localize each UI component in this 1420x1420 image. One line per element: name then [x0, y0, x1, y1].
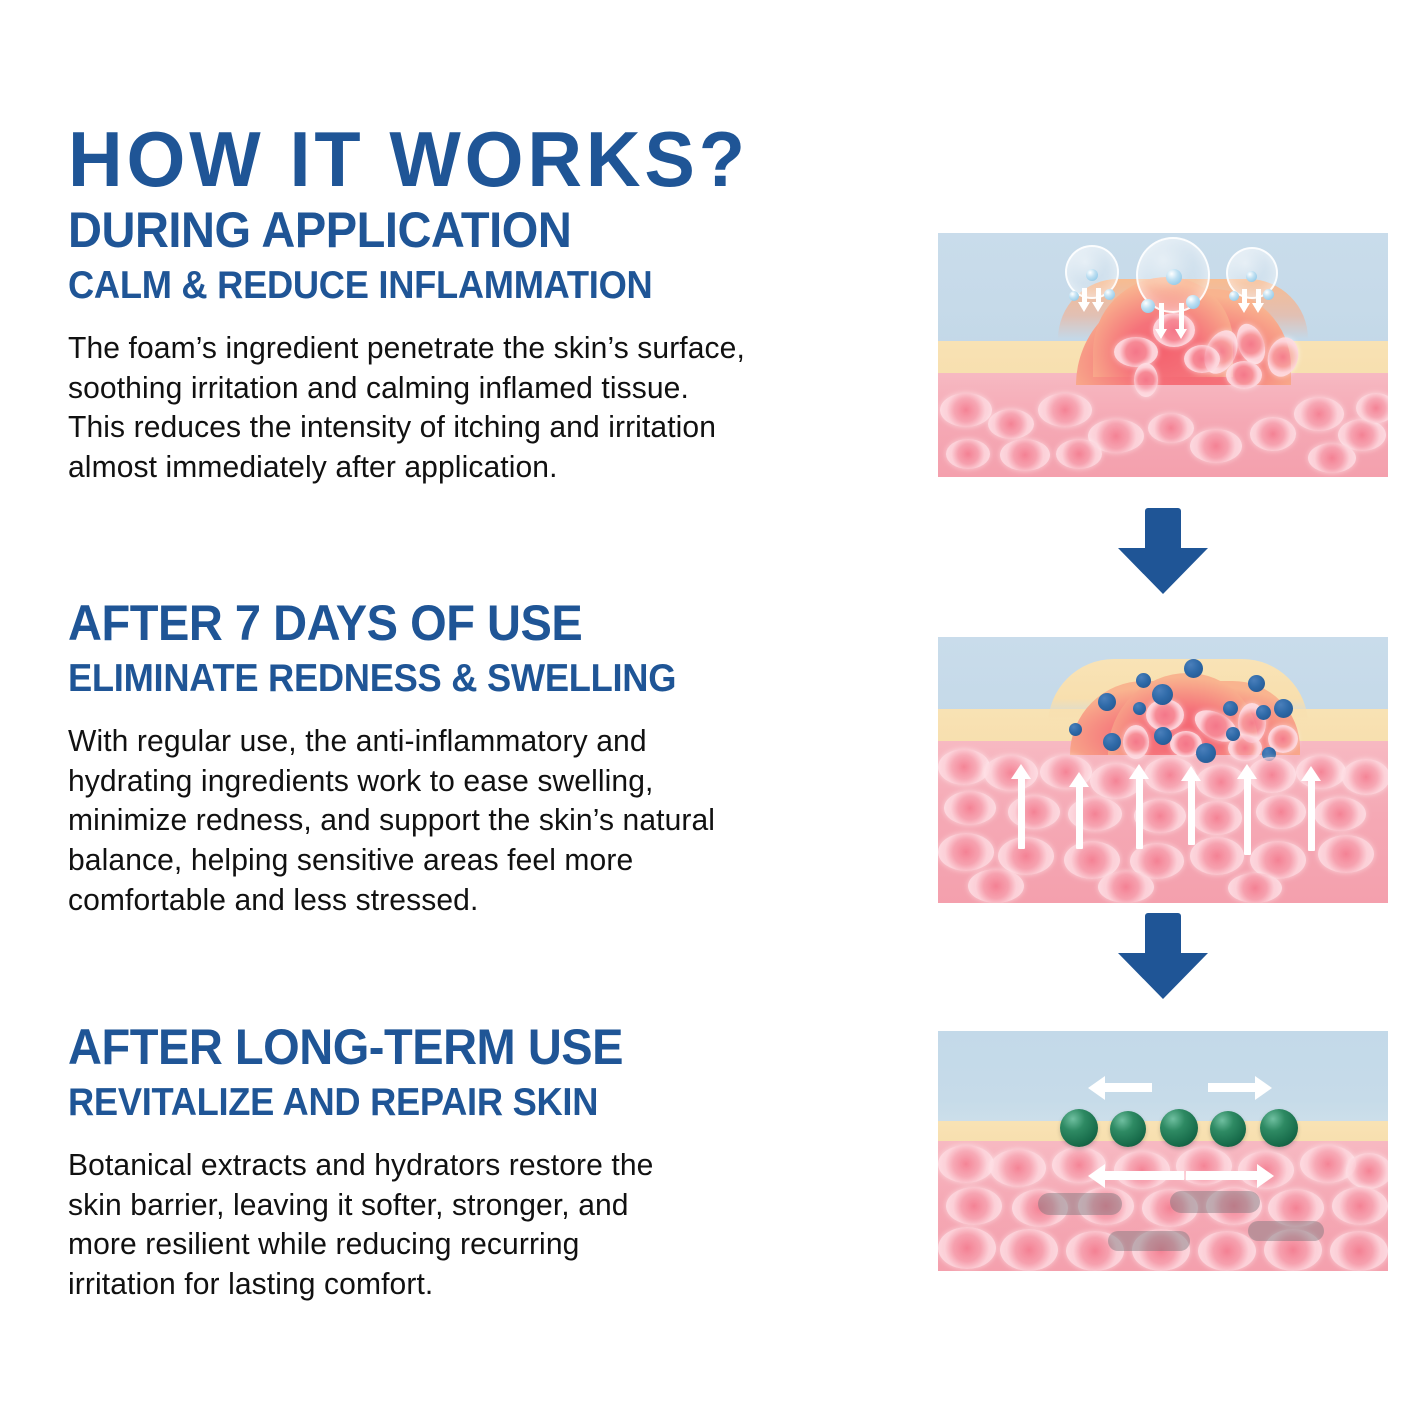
ingredient-particle	[1226, 727, 1240, 741]
botanical-sphere	[1110, 1111, 1146, 1147]
ingredient-particle	[1136, 673, 1151, 688]
ingredient-particle	[1133, 702, 1146, 715]
ingredient-particle	[1152, 684, 1173, 705]
infographic-root: HOW IT WORKS? DURING APPLICATION CALM & …	[0, 0, 1420, 1420]
page-title: HOW IT WORKS?	[68, 120, 749, 198]
upward-arrow	[1018, 777, 1025, 849]
body-line: comfortable and less stressed.	[68, 881, 935, 921]
section-body: With regular use, the anti-inflammatory …	[68, 722, 935, 920]
section-heading: AFTER LONG-TERM USE	[68, 1022, 895, 1073]
section-heading: AFTER 7 DAYS OF USE	[68, 598, 895, 649]
body-line: more resilient while reducing recurring	[68, 1225, 935, 1265]
body-line: With regular use, the anti-inflammatory …	[68, 722, 935, 762]
section-subheading: REVITALIZE AND REPAIR SKIN	[68, 1083, 886, 1124]
down-arrow-step-2-icon	[1118, 913, 1208, 999]
section-subheading: ELIMINATE REDNESS & SWELLING	[68, 659, 886, 700]
down-arrow-step-1-icon	[1118, 508, 1208, 594]
body-line: minimize redness, and support the skin’s…	[68, 801, 935, 841]
section-during-application: DURING APPLICATION CALM & REDUCE INFLAMM…	[68, 205, 948, 488]
botanical-sphere	[1060, 1109, 1098, 1147]
ingredient-particle	[1248, 675, 1265, 692]
ingredient-particle	[1154, 727, 1172, 745]
botanical-sphere	[1260, 1109, 1298, 1147]
section-after-7-days: AFTER 7 DAYS OF USE ELIMINATE REDNESS & …	[68, 598, 948, 920]
section-body: The foam’s ingredient penetrate the skin…	[68, 329, 935, 488]
ingredient-particle	[1196, 743, 1216, 763]
body-line: hydrating ingredients work to ease swell…	[68, 762, 935, 802]
spread-arrow-left	[1104, 1171, 1184, 1180]
body-line: soothing irritation and calming inflamed…	[68, 369, 935, 409]
body-line: The foam’s ingredient penetrate the skin…	[68, 329, 935, 369]
spread-arrow-right	[1208, 1083, 1256, 1092]
upward-arrow	[1136, 777, 1143, 849]
skin-cross-section-repaired-barrier-image	[938, 1031, 1388, 1271]
upward-arrow	[1244, 777, 1251, 855]
body-line: almost immediately after application.	[68, 448, 935, 488]
section-subheading: CALM & REDUCE INFLAMMATION	[68, 266, 886, 307]
upward-arrow	[1308, 779, 1315, 851]
ingredient-particle	[1098, 693, 1116, 711]
body-line: irritation for lasting comfort.	[68, 1265, 935, 1305]
ingredient-particle	[1274, 699, 1293, 718]
ingredient-particle	[1184, 659, 1203, 678]
upward-arrow	[1188, 779, 1195, 845]
body-line: balance, helping sensitive areas feel mo…	[68, 841, 935, 881]
botanical-sphere	[1160, 1109, 1198, 1147]
skin-cross-section-foam-bubbles-image	[938, 233, 1388, 477]
spread-arrow-left	[1104, 1083, 1152, 1092]
section-after-long-term: AFTER LONG-TERM USE REVITALIZE AND REPAI…	[68, 1022, 948, 1305]
ingredient-particle	[1069, 723, 1082, 736]
body-line: This reduces the intensity of itching an…	[68, 408, 935, 448]
ingredient-particle	[1103, 733, 1121, 751]
skin-cross-section-reduced-swelling-image	[938, 637, 1388, 903]
ingredient-particle	[1256, 705, 1271, 720]
botanical-sphere	[1210, 1111, 1246, 1147]
section-body: Botanical extracts and hydrators restore…	[68, 1146, 935, 1305]
upward-arrow	[1076, 785, 1083, 849]
spread-arrow-right	[1186, 1171, 1258, 1180]
section-heading: DURING APPLICATION	[68, 205, 895, 256]
body-line: Botanical extracts and hydrators restore…	[68, 1146, 935, 1186]
body-line: skin barrier, leaving it softer, stronge…	[68, 1186, 935, 1226]
ingredient-particle	[1223, 701, 1238, 716]
